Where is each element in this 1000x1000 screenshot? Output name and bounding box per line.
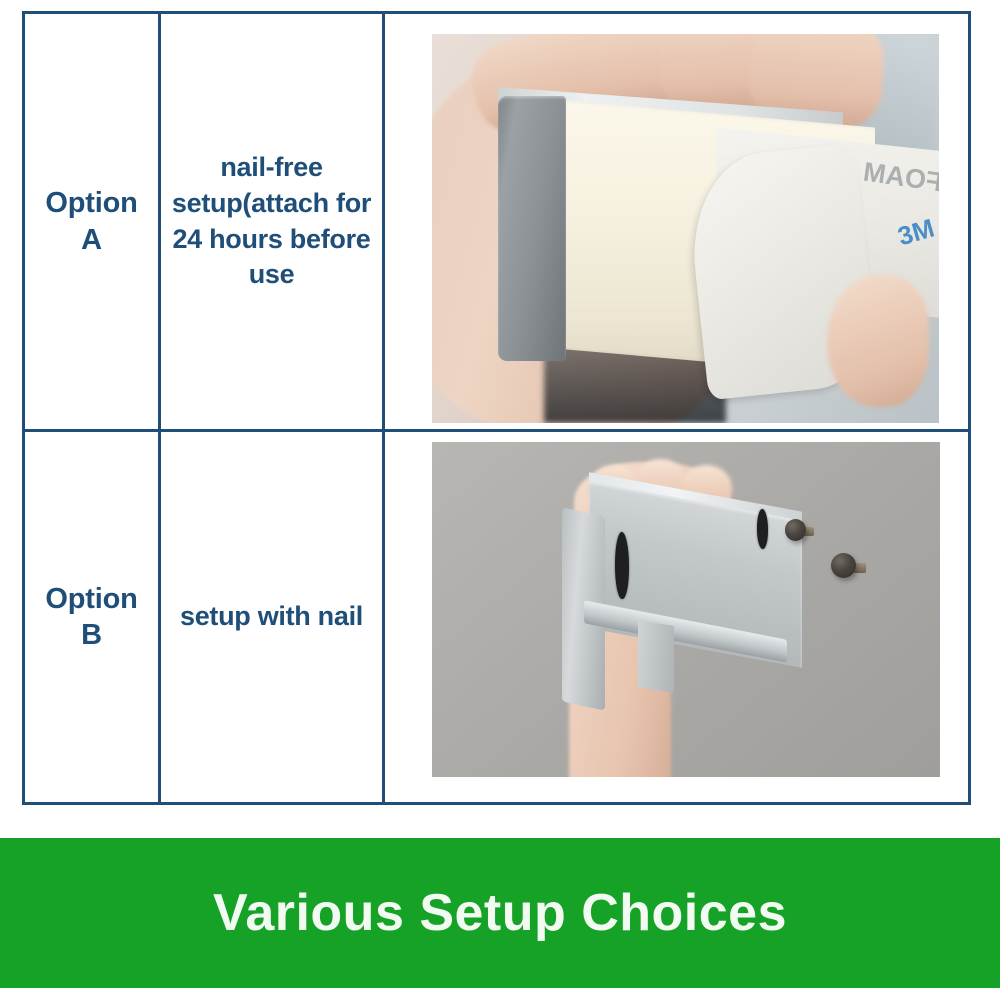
option-b-description: setup with nail [176, 599, 367, 635]
option-a-description: nail-free setup(attach for 24 hours befo… [161, 150, 382, 293]
option-b-cell: OptionB [25, 432, 161, 802]
photo-b-wall-screw [785, 519, 806, 541]
setup-options-table: OptionA nail-free setup(attach for 24 ho… [22, 11, 971, 805]
banner: Various Setup Choices [0, 838, 1000, 988]
photo-b-bracket [638, 620, 674, 693]
option-a-description-cell: nail-free setup(attach for 24 hours befo… [161, 14, 385, 429]
option-a-label: OptionA [45, 185, 137, 258]
table-row: OptionA nail-free setup(attach for 24 ho… [25, 14, 968, 432]
photo-nail-free-adhesive-tape: M FOAM 3M FOAM 3M 3M [432, 34, 939, 423]
option-a-photo-cell: M FOAM 3M FOAM 3M 3M [385, 14, 968, 429]
photo-a-thumb [827, 275, 928, 407]
option-b-photo-cell [385, 432, 968, 802]
option-a-cell: OptionA [25, 14, 161, 429]
banner-title: Various Setup Choices [213, 883, 787, 943]
photo-b-keyhole-slot [615, 531, 629, 600]
table-row: OptionB setup with nail [25, 432, 968, 802]
photo-b-wall-screw [831, 553, 856, 578]
option-b-description-cell: setup with nail [161, 432, 385, 802]
option-b-label: OptionB [45, 581, 137, 654]
photo-a-bar-end-cap [498, 96, 566, 361]
photo-setup-with-nail [432, 442, 940, 777]
